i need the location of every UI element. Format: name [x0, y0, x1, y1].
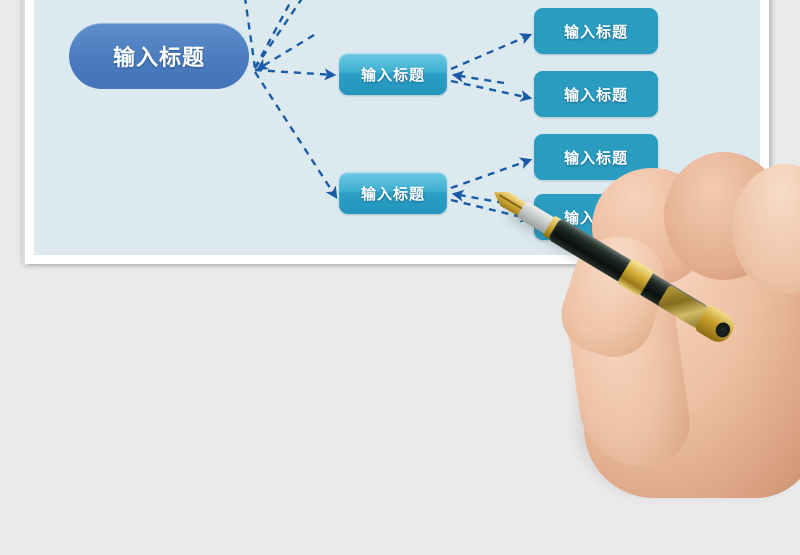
arrow-root-mid2 — [255, 72, 336, 197]
node-leaf-2[interactable]: 输入标题 — [534, 8, 658, 54]
screenshot-root: 输入标题 输入标题 输入标题 输入标题 输入标题 输入标题 输入标题 输入标题 … — [0, 0, 800, 555]
arrow-into-mid1 — [454, 75, 504, 83]
hand-holding-pen-photo — [556, 150, 800, 555]
arrow-mid1-leaf2 — [451, 81, 530, 98]
arrow-mid2-leaf3 — [451, 160, 530, 188]
node-leaf-3[interactable]: 输入标题 — [534, 71, 658, 117]
node-middle-3[interactable]: 输入标题 — [339, 172, 447, 214]
node-root[interactable]: 输入标题 — [69, 23, 249, 89]
arrow-root-mid0 — [255, 0, 330, 68]
arrow-mid1-leaf1 — [451, 35, 530, 69]
arrow-root-mid1 — [255, 70, 334, 75]
node-middle-2[interactable]: 输入标题 — [339, 53, 447, 95]
